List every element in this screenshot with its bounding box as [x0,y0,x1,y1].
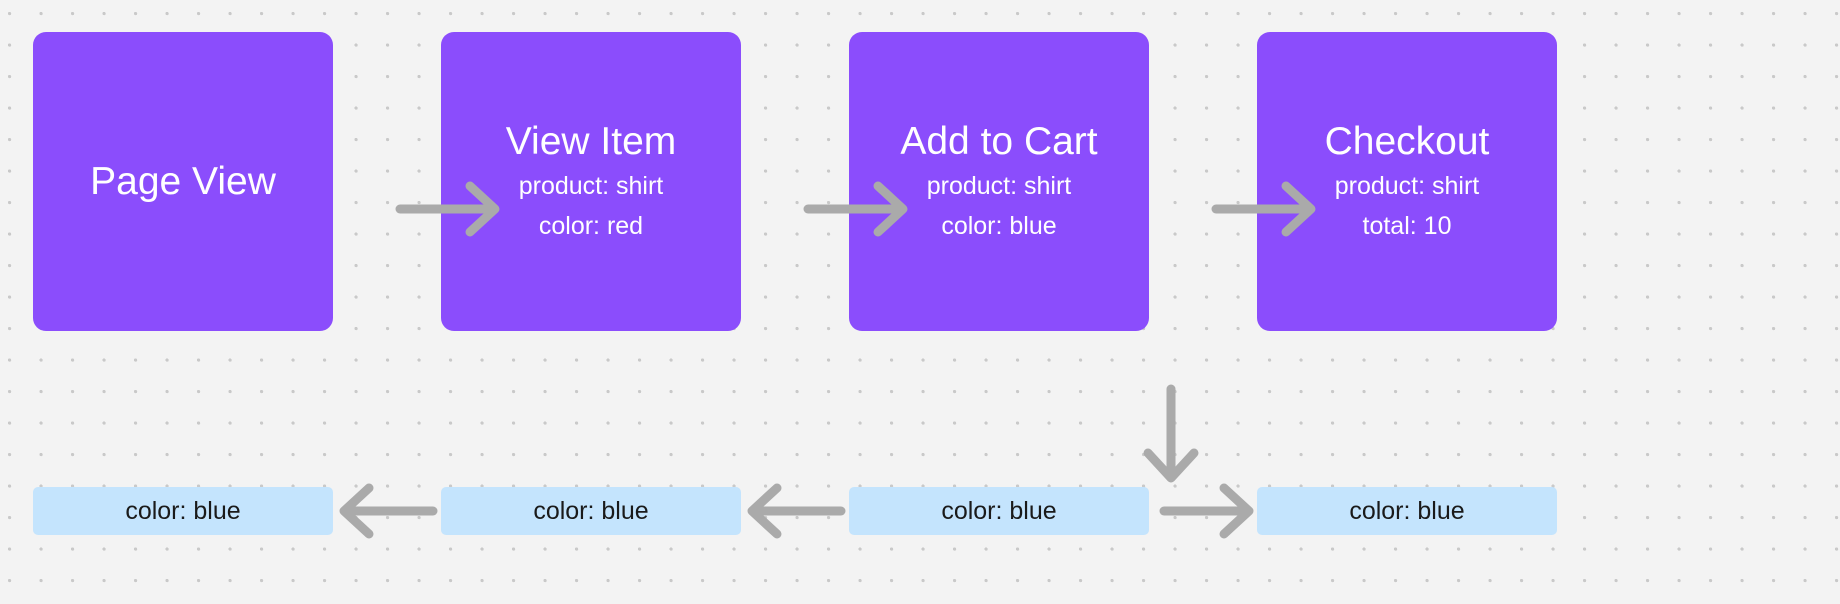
property-node-label: color: blue [125,496,240,526]
event-node-property: product: shirt [927,166,1072,206]
arrow-add-to-cart-to-property-3 [1140,385,1202,485]
event-node-page-view[interactable]: Page View [33,32,333,331]
property-node-1[interactable]: color: blue [33,487,333,535]
event-node-property: color: blue [941,206,1056,246]
event-node-title: View Item [506,118,677,166]
arrow-property-2-to-property-1 [337,480,437,542]
diagram-canvas: Page View View Item product: shirt color… [0,0,1840,604]
arrow-view-item-to-add-to-cart [804,178,912,240]
property-node-label: color: blue [1349,496,1464,526]
event-node-properties: product: shirt total: 10 [1335,166,1480,246]
event-node-property: product: shirt [1335,166,1480,206]
property-node-label: color: blue [941,496,1056,526]
arrow-add-to-cart-to-checkout [1212,178,1320,240]
event-node-title: Checkout [1325,118,1490,166]
event-node-properties: product: shirt color: blue [927,166,1072,246]
arrow-property-3-to-property-4 [1160,480,1256,542]
property-node-2[interactable]: color: blue [441,487,741,535]
property-node-3[interactable]: color: blue [849,487,1149,535]
property-node-4[interactable]: color: blue [1257,487,1557,535]
property-node-label: color: blue [533,496,648,526]
arrow-property-3-to-property-2 [745,480,845,542]
arrow-page-view-to-view-item [396,178,504,240]
event-node-property: product: shirt [519,166,664,206]
event-node-property: color: red [539,206,643,246]
event-node-properties: product: shirt color: red [519,166,664,246]
event-node-title: Add to Cart [900,118,1097,166]
event-node-property: total: 10 [1363,206,1452,246]
event-node-title: Page View [90,158,276,206]
